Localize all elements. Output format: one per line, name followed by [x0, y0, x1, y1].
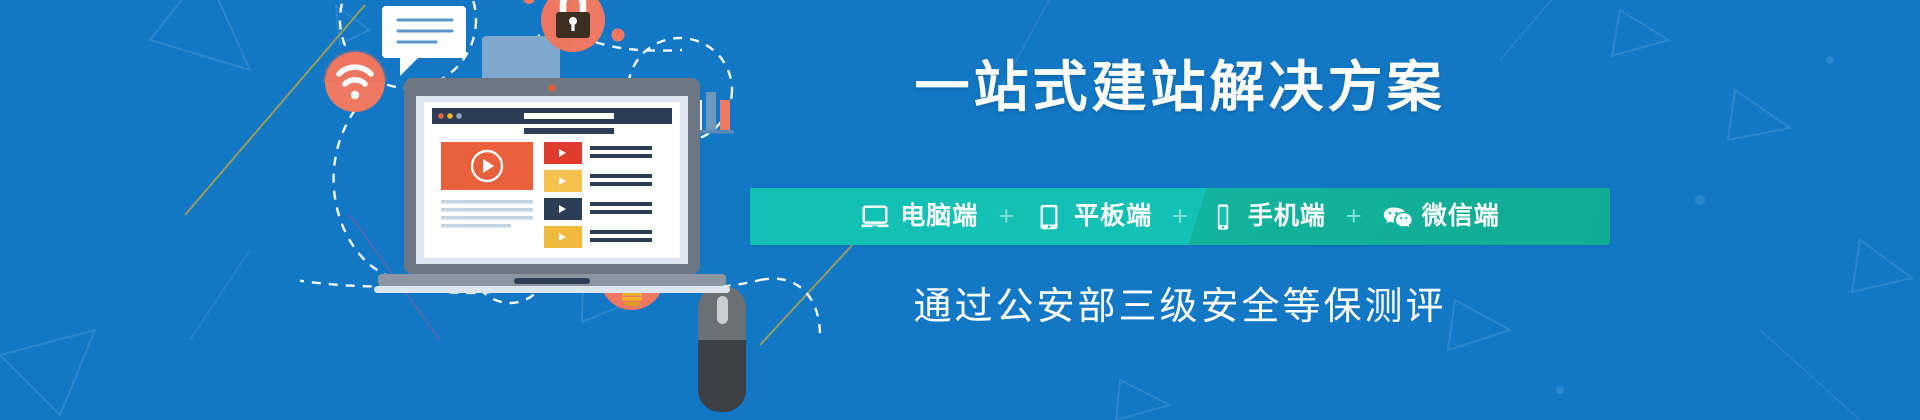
page-subtitle: 通过公安部三级安全等保测评: [740, 282, 1620, 332]
badge-item-wechat: 微信端: [1376, 202, 1506, 232]
wechat-icon: [1382, 202, 1412, 232]
badge-label-phone: 手机端: [1248, 204, 1326, 229]
platform-badge-bar: 电脑端 + 平板端 +: [750, 188, 1610, 245]
badge-label-desktop: 电脑端: [900, 204, 978, 229]
badge-label-tablet: 平板端: [1074, 204, 1152, 229]
video-player: [441, 142, 533, 190]
badge-separator: +: [984, 203, 1028, 230]
badge-separator: +: [1332, 203, 1376, 230]
badge-item-desktop: 电脑端: [854, 202, 984, 232]
computer-mouse-icon: [698, 286, 746, 412]
hero-banner: $ @: [0, 0, 1920, 420]
banner-copy: 一站式建站解决方案 电脑端 +: [740, 0, 1620, 420]
wifi-icon: [323, 50, 387, 112]
badge-item-phone: 手机端: [1202, 202, 1332, 232]
badge-item-tablet: 平板端: [1028, 202, 1158, 232]
laptop-mockup: [374, 78, 730, 293]
badge-label-wechat: 微信端: [1422, 204, 1500, 229]
phone-icon: [1208, 202, 1238, 232]
badge-separator: +: [1158, 203, 1202, 230]
desktop-icon: [860, 202, 890, 232]
tablet-icon: [1034, 202, 1064, 232]
page-title: 一站式建站解决方案: [740, 52, 1620, 122]
